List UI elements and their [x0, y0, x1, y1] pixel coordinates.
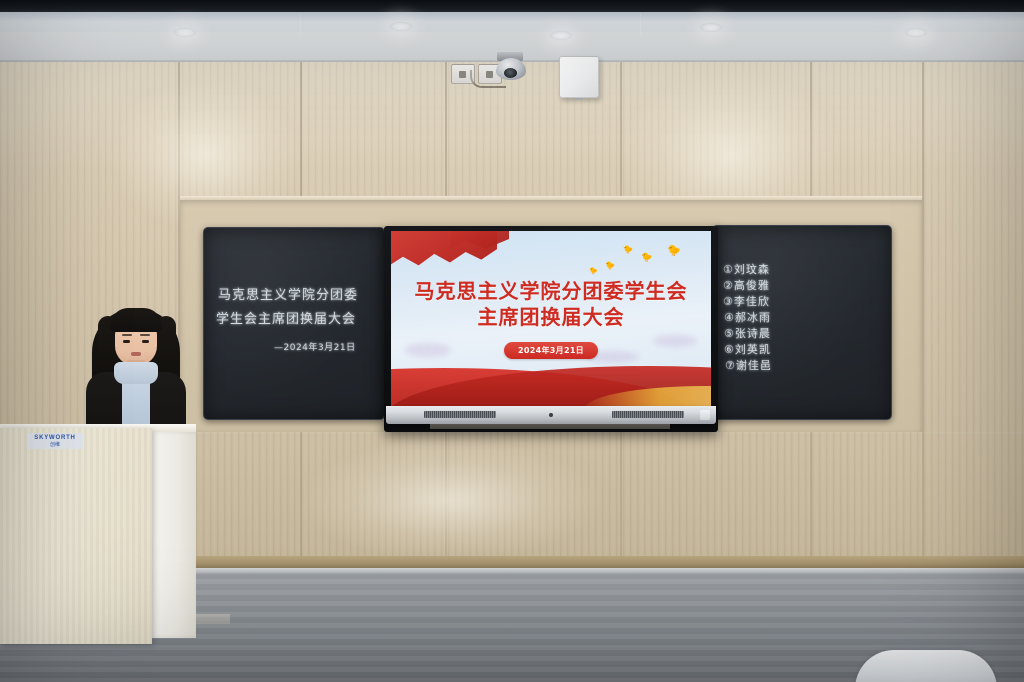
slide-title-line-1: 马克思主义学院分团委学生会 — [391, 275, 711, 304]
podium-brand-text-cn: 创维 — [50, 442, 60, 448]
slide-date-badge: 2024年3月21日 — [504, 342, 598, 359]
podium-brand-badge: SKYWORTH 创维 — [27, 433, 83, 449]
panel-screen[interactable]: 🐤 🐤 🐤 🐤 🐤 马克思主义学院分团委学生会 主席团换届大会 2024年3月2… — [391, 231, 711, 406]
ceiling-downlight — [905, 28, 927, 37]
left-blackboard: 马克思主义学院分团委 学生会主席团换届大会 —2024年3月21日 — [203, 227, 385, 420]
dove-icon: 🐤 — [623, 245, 633, 254]
right-blackboard-name: ⑦谢佳邑 — [725, 358, 772, 374]
panel-shadow — [430, 424, 670, 429]
left-blackboard-line-2: 学生会主席团换届大会 — [216, 310, 356, 330]
camera-lens-icon — [504, 68, 517, 78]
wall-panel-seam — [922, 62, 924, 562]
eye-left — [123, 340, 130, 343]
lectern[interactable] — [0, 428, 152, 644]
right-blackboard-name: ①刘玟森 — [723, 262, 770, 278]
ceiling-downlight — [390, 22, 412, 31]
dove-icon: 🐤 — [641, 253, 652, 262]
panel-ir-sensor-icon — [549, 413, 553, 417]
podium-side-panel — [150, 432, 196, 638]
panel-speaker-grille-right — [612, 411, 684, 418]
speaker-at-podium — [84, 300, 188, 434]
eyebrow-left — [122, 334, 132, 336]
eyebrow-right — [140, 334, 150, 336]
chair-backrest[interactable] — [855, 650, 997, 682]
right-blackboard-name: ⑥刘英凯 — [724, 342, 771, 358]
ceiling-seam — [300, 14, 301, 34]
right-blackboard-name: ⑤张诗晨 — [724, 326, 771, 342]
right-blackboard: ①刘玟森 ②高俊雅 ③李佳欣 ④郝冰雨 ⑤张诗晨 ⑥刘英凯 ⑦谢佳邑 — [712, 225, 892, 420]
panel-speaker-grille-left — [424, 411, 496, 418]
left-blackboard-line-1: 马克思主义学院分团委 — [218, 286, 358, 306]
slide-mist-decor — [653, 335, 697, 347]
ceiling-cove — [0, 12, 1024, 34]
dove-icon: 🐤 — [667, 247, 681, 256]
ceiling-downlight — [700, 23, 722, 32]
eye-right — [142, 340, 149, 343]
right-blackboard-name: ③李佳欣 — [723, 294, 770, 310]
ceiling-downlight — [550, 31, 572, 40]
lecture-room-photo: 马克思主义学院分团委 学生会主席团换届大会 —2024年3月21日 ①刘玟森 ②… — [0, 0, 1024, 682]
mouth — [131, 352, 141, 356]
shirt-collar — [114, 362, 158, 384]
slide-mist-decor — [405, 343, 451, 357]
right-blackboard-name: ④郝冰雨 — [724, 310, 771, 326]
ceiling-seam — [640, 14, 641, 34]
panel-power-button[interactable] — [700, 410, 710, 420]
right-blackboard-name: ②高俊雅 — [723, 278, 770, 294]
podium-brand-text: SKYWORTH — [34, 435, 75, 442]
left-blackboard-date: —2024年3月21日 — [274, 340, 356, 353]
wifi-access-point-icon — [559, 56, 599, 98]
dove-icon: 🐤 — [605, 261, 615, 270]
slide-title-line-2: 主席团换届大会 — [391, 301, 711, 330]
hair-fringe — [110, 308, 162, 332]
slide-date-text: 2024年3月21日 — [518, 345, 584, 356]
ceiling-downlight — [174, 28, 196, 37]
